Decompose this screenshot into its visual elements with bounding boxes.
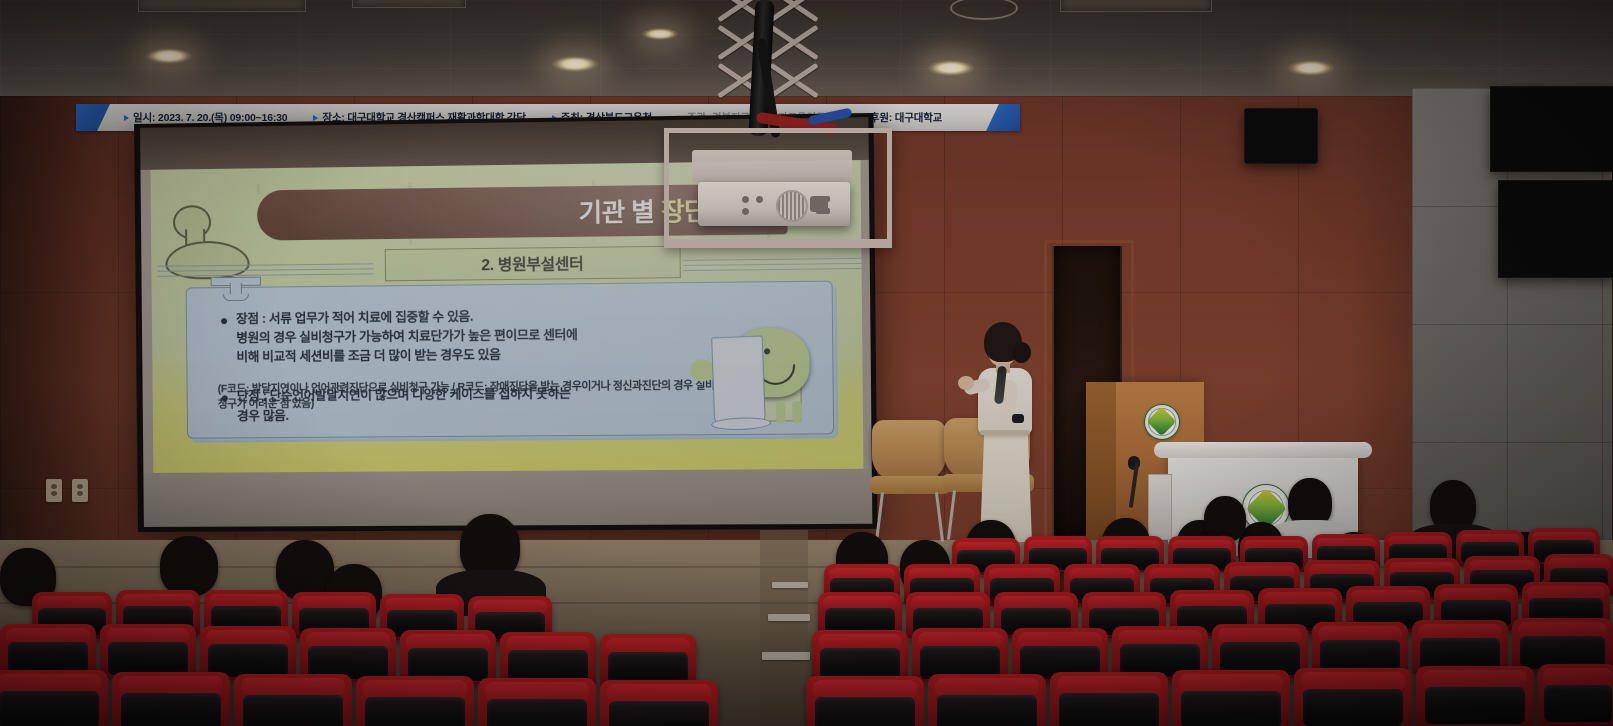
ceiling-light bbox=[1288, 60, 1334, 76]
ceiling-light bbox=[928, 60, 974, 76]
auditorium-photo-scene: 일시: 2023. 7. 20.(목) 09:00~16:30 장소: 대구대학… bbox=[0, 0, 1613, 726]
audience-seat[interactable] bbox=[1538, 664, 1613, 726]
projector-mount-plate bbox=[692, 150, 852, 182]
audience-seat[interactable] bbox=[1050, 672, 1168, 726]
daegu-university-emblem bbox=[1144, 404, 1180, 440]
bullet-line: 병원의 경우 실비청구가 가능하여 치료단가가 높은 편이므로 센터에 bbox=[236, 326, 577, 348]
audience-seat[interactable] bbox=[234, 674, 352, 726]
wall-speaker bbox=[1244, 108, 1318, 164]
bullet-dot-icon bbox=[221, 318, 227, 324]
green-character-icon bbox=[685, 328, 810, 427]
aisle-step bbox=[762, 652, 810, 660]
decorative-lines-left bbox=[157, 263, 373, 281]
aisle-step bbox=[768, 614, 810, 621]
presenter-hair-bun bbox=[1012, 342, 1031, 363]
bullet-text: 장점 : 서류 업무가 적어 치료에 집중할 수 있음. 병원의 경우 실비청구… bbox=[236, 307, 578, 368]
projector-lens bbox=[810, 196, 828, 212]
paper-clip-icon bbox=[211, 277, 259, 300]
ceiling-light bbox=[552, 56, 598, 72]
slide-content-box: 장점 : 서류 업무가 적어 치료에 집중할 수 있음. 병원의 경우 실비청구… bbox=[186, 281, 834, 439]
lectern-top-edge bbox=[1154, 442, 1372, 458]
wall-mounted-display-panel bbox=[1490, 86, 1613, 172]
center-aisle bbox=[760, 530, 808, 726]
bullet-line: 비해 비교적 세션비를 조금 더 많이 받는 경우도 있음 bbox=[236, 345, 577, 367]
projector-knob bbox=[756, 196, 763, 203]
projector-knob bbox=[742, 208, 749, 215]
projector-fan-grille bbox=[776, 190, 808, 222]
ceiling-vent bbox=[352, 0, 466, 8]
audience-seat[interactable] bbox=[1294, 668, 1412, 726]
audience-seat[interactable] bbox=[1416, 666, 1534, 726]
ceiling-light bbox=[146, 48, 192, 64]
clip-foot bbox=[223, 294, 249, 301]
audience-seat[interactable] bbox=[806, 676, 924, 726]
audience-seat[interactable] bbox=[112, 672, 230, 726]
mascot-leg bbox=[792, 401, 802, 423]
audience-seat[interactable] bbox=[928, 674, 1046, 726]
mascot-eye bbox=[764, 348, 770, 354]
audience-seat[interactable] bbox=[356, 676, 474, 726]
audience-seat[interactable] bbox=[478, 678, 596, 726]
presenter-belt bbox=[980, 430, 1030, 435]
mascot-leg bbox=[776, 401, 786, 423]
audience-seat[interactable] bbox=[600, 680, 718, 726]
presenter-watch bbox=[1012, 414, 1024, 423]
slide-subtitle: 2. 병원부설센터 bbox=[385, 246, 681, 282]
aisle-step bbox=[772, 582, 808, 588]
banner-cap-right bbox=[986, 104, 1020, 131]
triangle-bullet-icon bbox=[313, 115, 318, 121]
footnote-line: (F코드: 발달지연이나 언어관련진단으로 실비청구 가능 / R코드: 장애진… bbox=[218, 380, 538, 395]
document-paper bbox=[711, 336, 766, 427]
audience-seating-area bbox=[0, 470, 1613, 726]
attendee-head bbox=[160, 536, 218, 596]
wall-mounted-display-panel bbox=[1498, 180, 1613, 278]
audience-seat[interactable] bbox=[1172, 670, 1290, 726]
slide-title-plain: 기관 별 bbox=[578, 198, 661, 227]
slide-footnote: (F코드: 발달지연이나 언어관련진단으로 실비청구 가능 / R코드: 장애진… bbox=[218, 378, 720, 414]
projector-knob bbox=[742, 196, 749, 203]
decorative-lines-right bbox=[683, 258, 864, 276]
triangle-bullet-icon bbox=[124, 115, 129, 121]
projector-lift-assembly bbox=[660, 0, 900, 260]
audience-seat[interactable] bbox=[100, 624, 196, 678]
ceiling-vent bbox=[138, 0, 306, 12]
audience-seat[interactable] bbox=[0, 670, 108, 726]
presenter-left-hand bbox=[958, 376, 974, 390]
ceiling-vent bbox=[1060, 0, 1212, 12]
